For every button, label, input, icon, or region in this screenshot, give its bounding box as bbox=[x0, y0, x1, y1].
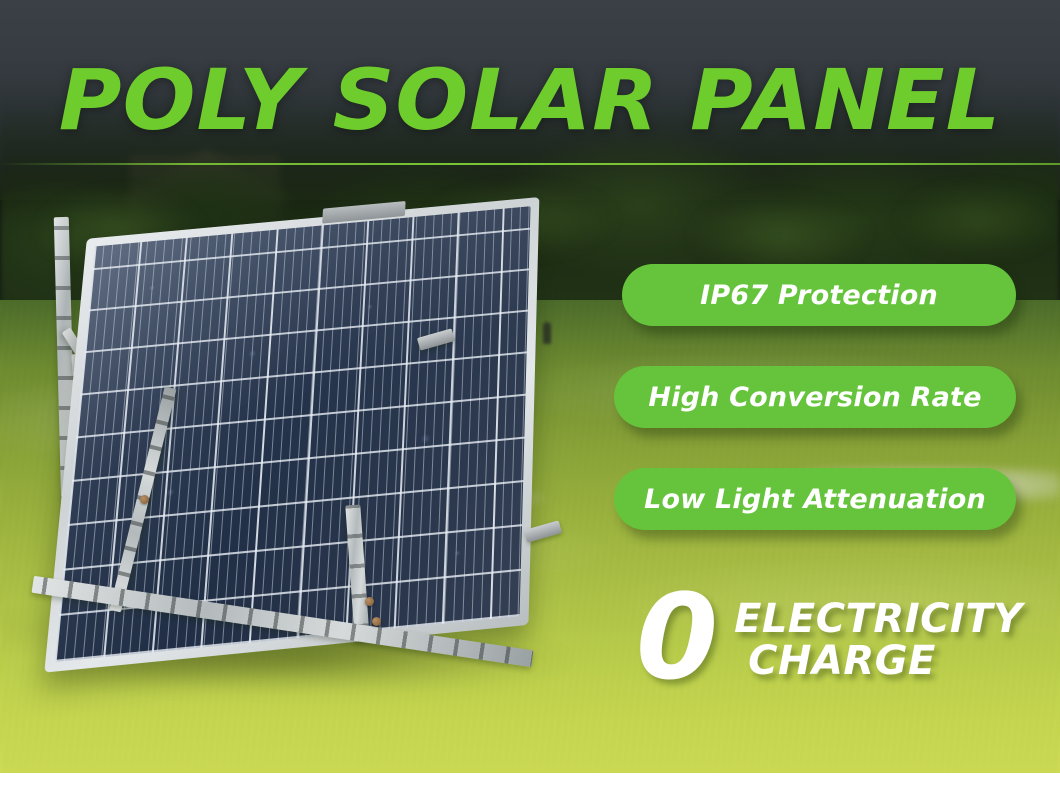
page-title: POLY SOLAR PANEL bbox=[0, 58, 1060, 142]
zero-digit: 0 bbox=[636, 578, 718, 696]
product-image-solar-panel bbox=[20, 205, 620, 725]
mount-bolt bbox=[140, 495, 149, 504]
feature-pill-label: Low Light Attenuation bbox=[644, 484, 986, 515]
feature-pill-high-conversion-rate[interactable]: High Conversion Rate bbox=[614, 366, 1016, 428]
mount-bolt bbox=[372, 617, 381, 626]
zero-charge-line-1: ELECTRICITY bbox=[734, 599, 1022, 641]
zero-electricity-charge-badge: 0 ELECTRICITY CHARGE bbox=[636, 586, 1016, 696]
bottom-white-strip bbox=[0, 773, 1060, 790]
zero-charge-line-2: CHARGE bbox=[734, 641, 1022, 683]
mount-bolt bbox=[365, 597, 374, 606]
feature-pill-ip67-protection[interactable]: IP67 Protection bbox=[622, 264, 1016, 326]
zero-charge-text: ELECTRICITY CHARGE bbox=[734, 599, 1022, 682]
feature-pill-label: High Conversion Rate bbox=[648, 382, 981, 413]
feature-pill-label: IP67 Protection bbox=[700, 280, 938, 311]
feature-pill-low-light-attenuation[interactable]: Low Light Attenuation bbox=[614, 468, 1016, 530]
headline-divider-rule bbox=[0, 163, 1060, 165]
promo-banner: POLY SOLAR PANEL bbox=[0, 0, 1060, 790]
